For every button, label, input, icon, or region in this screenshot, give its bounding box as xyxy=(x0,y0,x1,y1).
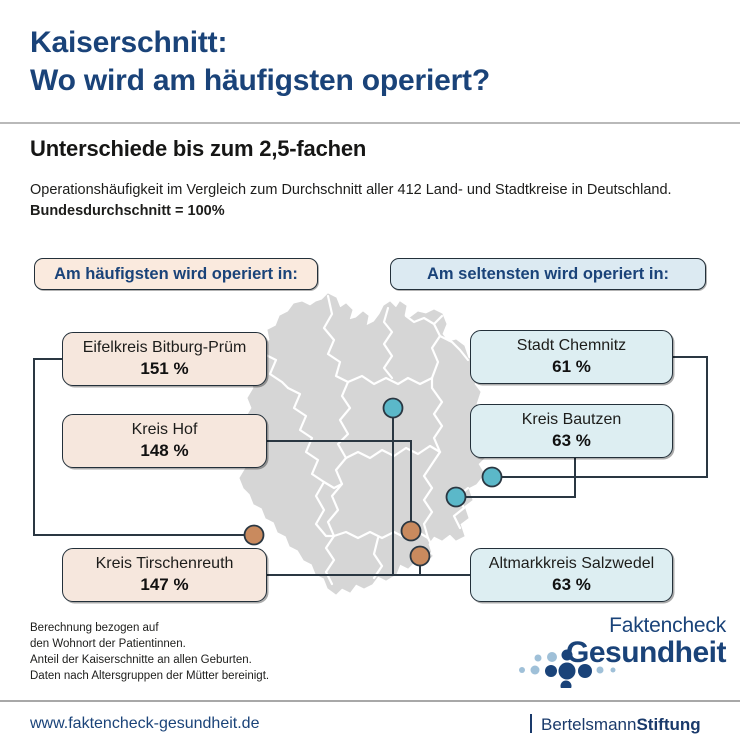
title-line-2: Wo wird am häufigsten operiert? xyxy=(30,62,710,100)
lead-emphasis: Bundesdurchschnitt = 100% xyxy=(30,203,225,219)
bertelsmann-stiftung-logo: BertelsmannStiftung xyxy=(530,714,701,735)
divider-bottom xyxy=(0,700,740,702)
callout-kreis-hof: Kreis Hof 148 % xyxy=(62,414,267,468)
callout-value: 148 % xyxy=(140,440,188,462)
title-line-1: Kaiserschnitt: xyxy=(30,26,227,59)
callout-value: 147 % xyxy=(140,574,188,596)
callout-label: Stadt Chemnitz xyxy=(517,336,626,356)
logo-line-1: Faktencheck xyxy=(609,614,726,638)
map-country-outline xyxy=(240,294,486,594)
callout-label: Kreis Hof xyxy=(132,420,198,440)
callout-value: 61 % xyxy=(552,356,591,378)
lead-paragraph: Operationshäufigkeit im Vergleich zum Du… xyxy=(30,180,702,222)
lead-text: Operationshäufigkeit im Vergleich zum Du… xyxy=(30,182,672,198)
faktencheck-gesundheit-logo: Faktencheck Gesundheit xyxy=(516,612,728,688)
callout-label: Kreis Tirschenreuth xyxy=(96,554,234,574)
footnote-line-4: Daten nach Altersgruppen der Mütter bere… xyxy=(30,668,330,684)
legend-least-frequent: Am seltensten wird operiert in: xyxy=(390,258,706,290)
callout-stadt-chemnitz: Stadt Chemnitz 61 % xyxy=(470,330,673,384)
callout-altmarkkreis-salzwedel: Altmarkkreis Salzwedel 63 % xyxy=(470,548,673,602)
footnote-line-2: den Wohnort der Patientinnen. xyxy=(30,636,330,652)
callout-eifelkreis-bitburg-pruem: Eifelkreis Bitburg-Prüm 151 % xyxy=(62,332,267,386)
callout-kreis-tirschenreuth: Kreis Tirschenreuth 147 % xyxy=(62,548,267,602)
brand-name-bold: Stiftung xyxy=(636,715,700,734)
callout-label: Kreis Bautzen xyxy=(522,410,622,430)
legend-most-frequent: Am häufigsten wird operiert in: xyxy=(34,258,318,290)
callout-label: Altmarkkreis Salzwedel xyxy=(489,554,654,574)
footnote-line-1: Berechnung bezogen auf xyxy=(30,620,330,636)
brand-name-light: Bertelsmann xyxy=(541,715,636,734)
brand-divider-bar xyxy=(530,714,532,733)
footnote-line-3: Anteil der Kaiserschnitte an allen Gebur… xyxy=(30,652,330,668)
callout-value: 151 % xyxy=(140,358,188,380)
website-url-link[interactable]: www.faktencheck-gesundheit.de xyxy=(30,715,259,733)
callout-value: 63 % xyxy=(552,430,591,452)
callout-kreis-bautzen: Kreis Bautzen 63 % xyxy=(470,404,673,458)
callout-label: Eifelkreis Bitburg-Prüm xyxy=(83,338,247,358)
footnote: Berechnung bezogen auf den Wohnort der P… xyxy=(30,620,330,684)
callout-value: 63 % xyxy=(552,574,591,596)
logo-dots-icon xyxy=(516,640,624,688)
divider-top xyxy=(0,122,740,124)
page-title: Kaiserschnitt: Wo wird am häufigsten ope… xyxy=(30,24,710,100)
subtitle: Unterschiede bis zum 2,5-fachen xyxy=(30,136,710,162)
